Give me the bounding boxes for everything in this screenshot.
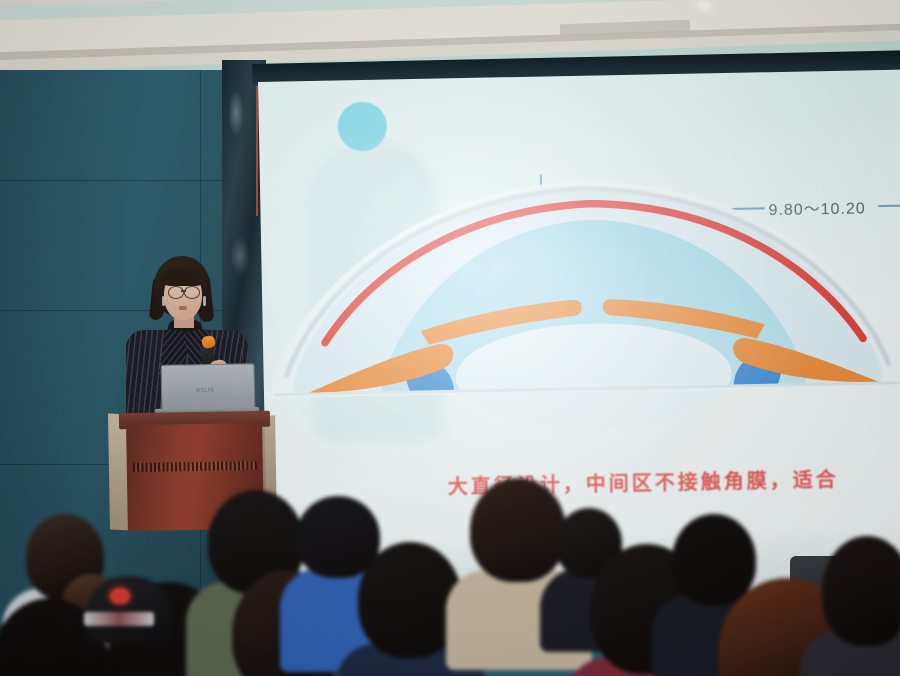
laptop-brand-label: ASUS <box>196 388 214 394</box>
audience-head-11 <box>672 514 756 606</box>
audience-head-8 <box>470 478 566 582</box>
earring <box>203 296 206 306</box>
glasses-bridge <box>181 290 186 292</box>
camera-record-indicator-icon <box>110 588 130 604</box>
ceiling-downlight-icon <box>698 1 711 10</box>
speaker-mouth <box>179 306 187 310</box>
audience-head-13 <box>822 536 900 646</box>
camera-strap <box>84 612 154 626</box>
audience <box>0 470 900 676</box>
pillar-highlight <box>228 90 244 136</box>
camera-body <box>86 576 172 644</box>
speaker-fringe <box>162 268 204 286</box>
lecture-hall-photo: 9.80～10.20 <box>0 0 900 676</box>
glasses-icon <box>184 286 200 299</box>
glasses-icon <box>168 286 184 299</box>
earring <box>162 296 165 306</box>
